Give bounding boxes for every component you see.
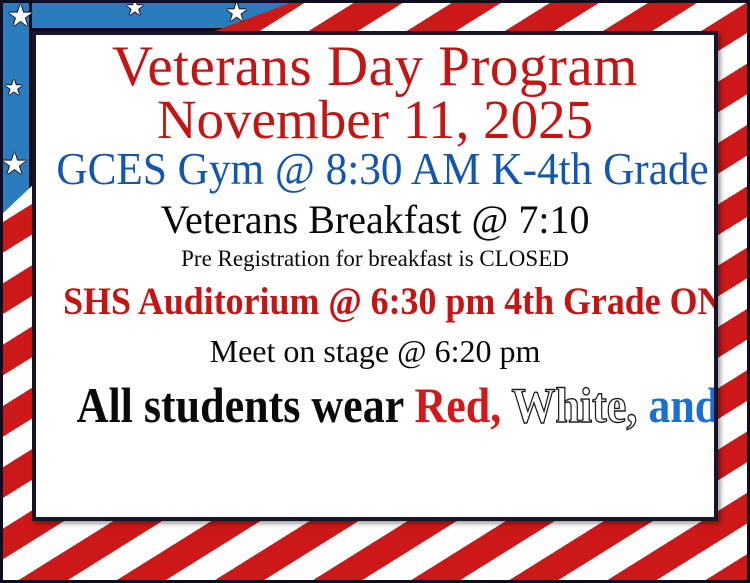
star-icon: ★ — [125, 0, 145, 20]
gym-event-line: GCES Gym @ 8:30 AM K-4th Grade — [56, 146, 693, 193]
dress-code-prefix: All students wear — [77, 377, 415, 433]
auditorium-event-line: SHS Auditorium @ 6:30 pm 4th Grade ONLY — [63, 282, 687, 322]
star-icon: ★ — [4, 78, 24, 100]
dress-code-red: Red, — [414, 377, 501, 433]
dress-code-blue: and/or Blue — [648, 377, 718, 433]
dress-code-space-2 — [637, 377, 648, 433]
pre-registration-notice: Pre Registration for breakfast is CLOSED — [36, 247, 714, 270]
breakfast-line: Veterans Breakfast @ 7:10 — [36, 200, 714, 241]
program-date: November 11, 2025 — [36, 92, 714, 148]
meet-on-stage-line: Meet on stage @ 6:20 pm — [36, 335, 714, 368]
content-panel: Veterans Day Program November 11, 2025 G… — [32, 31, 718, 521]
veterans-day-flyer: ★ ★ ★ ★ ★ Veterans Day Program November … — [0, 0, 750, 583]
dress-code-white: White, — [511, 377, 637, 433]
dress-code-line: All students wear Red, White, and/or Blu… — [77, 380, 674, 431]
star-icon: ★ — [225, 0, 248, 26]
dress-code-space-1 — [501, 377, 511, 433]
star-icon: ★ — [1, 150, 28, 180]
program-title: Veterans Day Program — [36, 38, 714, 96]
star-icon: ★ — [7, 2, 34, 32]
